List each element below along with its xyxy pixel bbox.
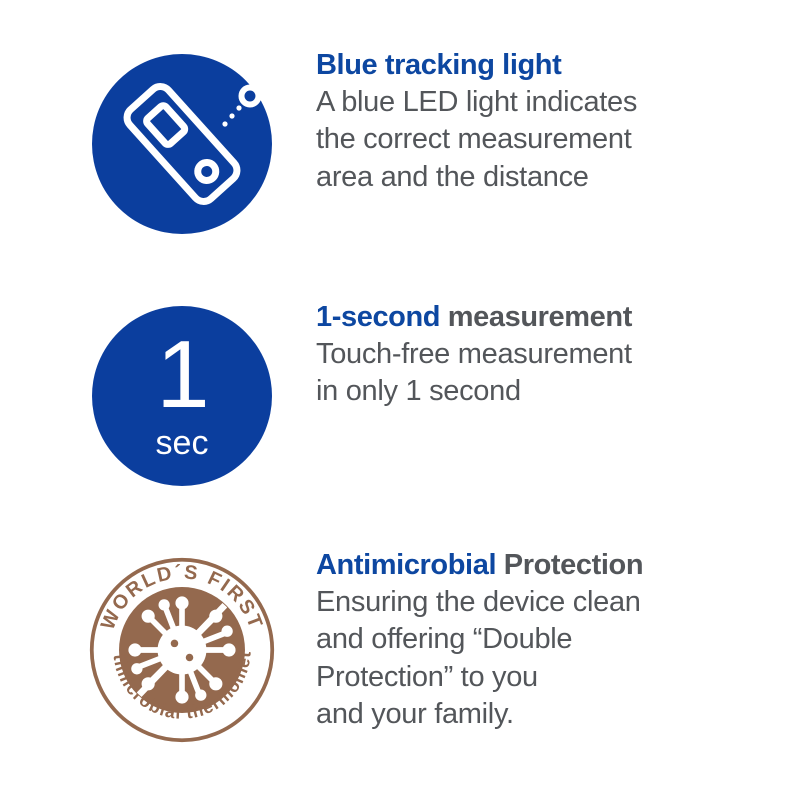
heading-rest: measurement [440, 301, 632, 333]
one-second-icon: 1 sec [92, 306, 272, 486]
feature-body-antimicrobial: Ensuring the device clean and offering “… [316, 584, 800, 732]
feature-body-tracking-light: A blue LED light indicates the correct m… [316, 84, 800, 195]
feature-row-antimicrobial: WORLD´S FIRST antimicrobial thermometer [0, 548, 800, 778]
icon-cell-tracking-light [0, 48, 300, 234]
one-second-number: 1 [156, 336, 207, 415]
feature-row-one-second: 1 sec 1-second measurement Touch-free me… [0, 300, 800, 500]
feature-row-tracking-light: Blue tracking light A blue LED light ind… [0, 48, 800, 258]
icon-cell-antimicrobial: WORLD´S FIRST antimicrobial thermometer [0, 548, 300, 744]
text-cell-one-second: 1-second measurement Touch-free measurem… [300, 300, 800, 411]
text-cell-tracking-light: Blue tracking light A blue LED light ind… [300, 48, 800, 196]
heading-rest: Protection [496, 549, 643, 581]
antimicrobial-badge-icon: WORLD´S FIRST antimicrobial thermometer [88, 556, 276, 744]
feature-list: Blue tracking light A blue LED light ind… [0, 0, 800, 800]
virus-glyph [128, 596, 235, 703]
heading-highlight: Blue tracking light [316, 49, 561, 81]
feature-heading-antimicrobial: Antimicrobial Protection [316, 548, 800, 583]
one-second-unit: sec [156, 426, 209, 460]
feature-body-one-second: Touch-free measurement in only 1 second [316, 336, 800, 410]
text-cell-antimicrobial: Antimicrobial Protection Ensuring the de… [300, 548, 800, 733]
heading-highlight: Antimicrobial [316, 549, 496, 581]
thermometer-led-beam-icon [92, 54, 272, 234]
feature-heading-one-second: 1-second measurement [316, 300, 800, 335]
feature-heading-tracking-light: Blue tracking light [316, 48, 800, 83]
heading-highlight: 1-second [316, 301, 440, 333]
icon-cell-one-second: 1 sec [0, 300, 300, 486]
